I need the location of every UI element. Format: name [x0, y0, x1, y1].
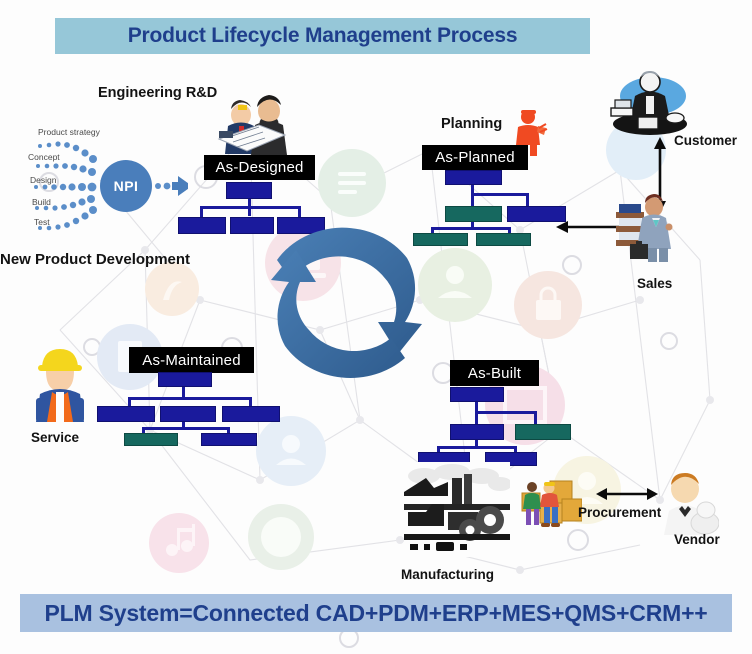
footer-banner: PLM System=Connected CAD+PDM+ERP+MES+QMS… [20, 594, 732, 632]
tree-connector [534, 411, 537, 425]
diagram-canvas: Product Lifecycle Management Process Eng… [0, 0, 752, 654]
npi-cluster: NPI Product strategy Concept Design Buil… [18, 128, 188, 248]
tree-node [97, 406, 155, 422]
caption-manufacturing: Manufacturing [401, 567, 494, 582]
service-worker-icon [32, 344, 88, 422]
engineers-blueprint-icon [211, 93, 297, 155]
manufacturing-factory-icon [404, 462, 510, 557]
label-planning: Planning [441, 116, 502, 132]
tag-as-designed: As-Designed [204, 155, 315, 180]
tree-connector [431, 227, 511, 230]
tag-as-planned: As-Planned [422, 145, 528, 170]
tree-node [445, 170, 502, 185]
tree-node [124, 433, 178, 446]
tree-node [222, 406, 280, 422]
caption-vendor: Vendor [674, 532, 720, 547]
tree-as-maintained [96, 372, 286, 440]
tree-connector [526, 193, 529, 207]
tree-connector [200, 206, 301, 209]
sales-person-icon [614, 194, 686, 264]
tree-node [515, 424, 571, 440]
tree-node [158, 372, 212, 387]
tree-node [450, 387, 504, 402]
tree-node [226, 182, 272, 199]
caption-sales: Sales [637, 276, 672, 291]
lifecycle-cycle-arrows [255, 218, 440, 378]
tree-connector [475, 411, 537, 414]
tree-node [450, 424, 504, 440]
caption-procurement: Procurement [578, 505, 661, 520]
caption-service: Service [31, 430, 79, 445]
tag-as-built: As-Built [450, 360, 539, 386]
tree-as-planned [421, 170, 571, 238]
tree-connector [475, 411, 478, 425]
customer-at-desk-icon [605, 70, 691, 136]
arrow-procurement-vendor [596, 485, 658, 503]
tree-node [476, 233, 531, 246]
tree-node [201, 433, 257, 446]
tree-as-built [432, 387, 597, 459]
procurement-workers-icon [520, 473, 582, 533]
vendor-person-icon [657, 473, 719, 535]
tree-connector [142, 427, 230, 430]
tree-connector [437, 446, 517, 449]
tag-as-maintained: As-Maintained [129, 347, 254, 373]
page-title: Product Lifecycle Management Process [55, 18, 590, 54]
tree-connector [471, 193, 529, 196]
tree-connector [128, 397, 252, 400]
label-engineering-rd: Engineering R&D [98, 85, 217, 101]
npi-dot-rays-icon [18, 128, 188, 248]
caption-new-product-development: New Product Development [0, 251, 190, 268]
caption-customer: Customer [674, 133, 737, 148]
tree-node [160, 406, 216, 422]
tree-connector [471, 193, 474, 207]
tree-node [445, 206, 502, 222]
